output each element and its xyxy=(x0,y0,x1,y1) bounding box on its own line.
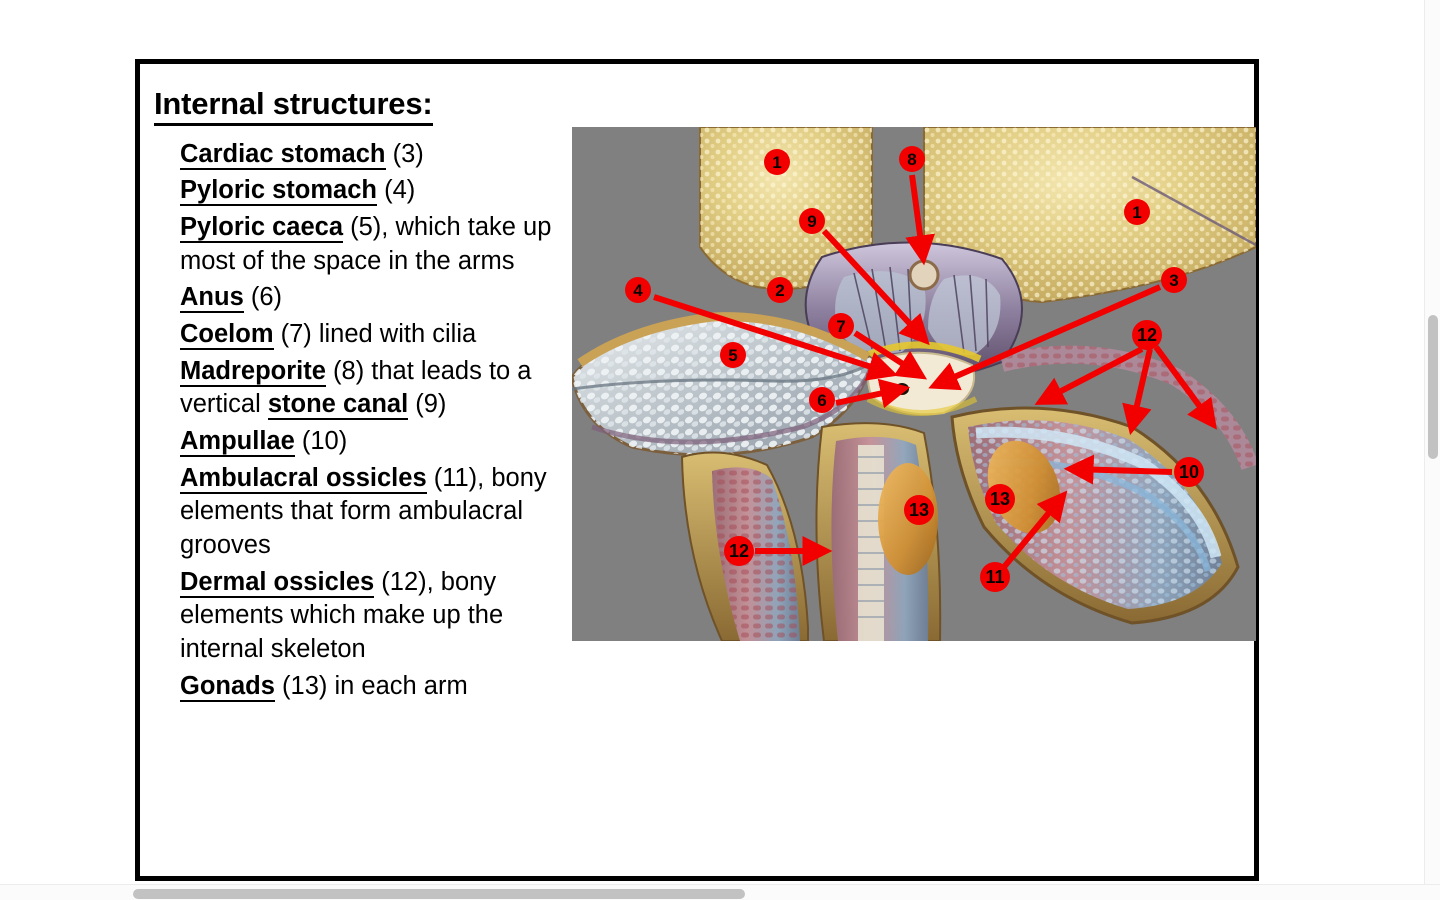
structure-term: Anus xyxy=(180,283,244,313)
structure-term: Ampullae xyxy=(180,427,295,457)
arm-lower-middle xyxy=(816,423,940,641)
slide-canvas: Internal structures: Cardiac stomach (3)… xyxy=(135,59,1259,881)
structure-term: Cardiac stomach xyxy=(180,140,386,170)
sea-star-dissection-photo: 1819342127561013131211 xyxy=(572,127,1256,641)
madreporite-structure xyxy=(910,261,938,289)
slide-viewer: Internal structures: Cardiac stomach (3)… xyxy=(0,0,1440,900)
sea-star-illustration xyxy=(572,127,1256,641)
list-item: Coelom (7) lined with cilia xyxy=(180,318,578,352)
structure-term: Pyloric caeca xyxy=(180,213,343,243)
vertical-scrollbar-thumb[interactable] xyxy=(1428,315,1438,459)
structure-term: Coelom xyxy=(180,320,274,350)
structure-term: Ambulacral ossicles xyxy=(180,464,427,494)
vertical-scrollbar[interactable] xyxy=(1424,0,1440,884)
horizontal-scrollbar-thumb[interactable] xyxy=(133,889,745,899)
structure-description: (10) xyxy=(295,427,347,455)
structure-description-secondary: (9) xyxy=(408,390,446,418)
internal-structures-list: Cardiac stomach (3)Pyloric stomach (4)Py… xyxy=(148,138,578,704)
list-item: Pyloric stomach (4) xyxy=(180,174,578,208)
structure-description: (7) lined with cilia xyxy=(274,320,477,348)
structure-description: (6) xyxy=(244,283,282,311)
structure-term: Dermal ossicles xyxy=(180,568,374,598)
structure-description: (3) xyxy=(386,140,424,168)
structure-term: Pyloric stomach xyxy=(180,176,377,206)
text-column: Internal structures: Cardiac stomach (3)… xyxy=(148,87,578,706)
list-item: Cardiac stomach (3) xyxy=(180,138,578,172)
page-title: Internal structures: xyxy=(154,87,433,126)
horizontal-scrollbar[interactable] xyxy=(0,884,1440,900)
structure-term: Madreporite xyxy=(180,357,326,387)
list-item: Ambulacral ossicles (11), bony elements … xyxy=(180,462,578,563)
list-item: Ampullae (10) xyxy=(180,425,578,459)
list-item: Madreporite (8) that leads to a vertical… xyxy=(180,355,578,422)
structure-description: (13) in each arm xyxy=(275,672,468,700)
anus-opening xyxy=(895,383,909,395)
list-item: Gonads (13) in each arm xyxy=(180,670,578,704)
list-item: Dermal ossicles (12), bony elements whic… xyxy=(180,566,578,667)
list-item: Pyloric caeca (5), which take up most of… xyxy=(180,211,578,278)
structure-term-secondary: stone canal xyxy=(268,390,408,420)
structure-term: Gonads xyxy=(180,672,275,702)
structure-description: (4) xyxy=(377,176,415,204)
gonad-left xyxy=(878,463,938,575)
list-item: Anus (6) xyxy=(180,281,578,315)
